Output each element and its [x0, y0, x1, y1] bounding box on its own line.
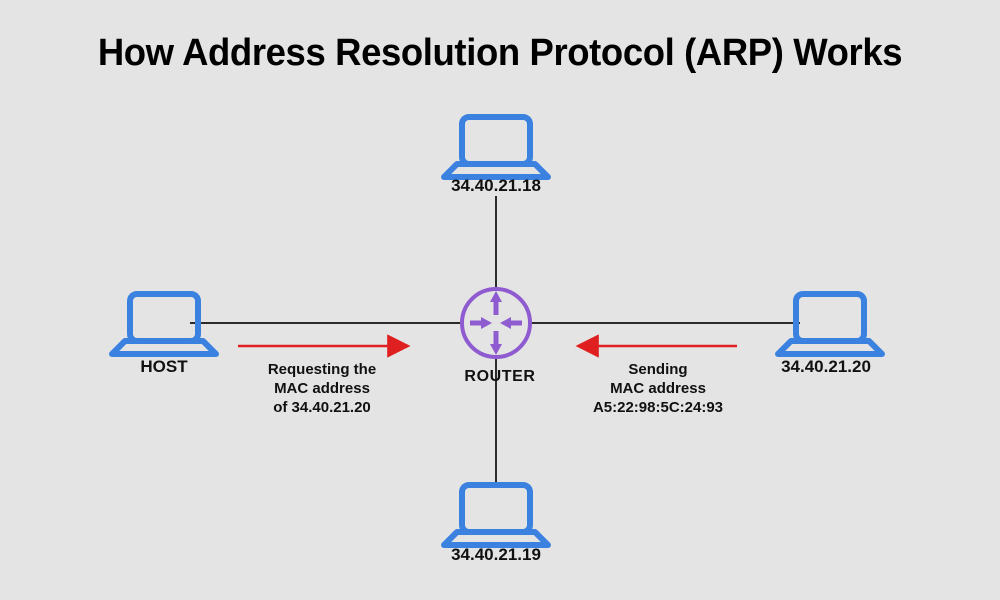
router-arrow-up [490, 291, 502, 315]
flow-label-request: Requesting the MAC address of 34.40.21.2… [232, 360, 412, 418]
router-arrow-down [490, 331, 502, 355]
node-label-router: ROUTER [420, 368, 580, 386]
diagram-canvas [0, 0, 1000, 600]
router-arrow-left-inward [500, 317, 522, 329]
laptop-icon-right [778, 294, 882, 354]
node-label-top: 34.40.21.18 [396, 176, 596, 196]
flow-reply-line2: MAC address [565, 379, 751, 398]
arp-diagram: How Address Resolution Protocol (ARP) Wo… [0, 0, 1000, 600]
node-label-bottom: 34.40.21.19 [396, 545, 596, 565]
flow-request-line1: Requesting the [232, 360, 412, 379]
node-label-right: 34.40.21.20 [726, 357, 926, 377]
laptop-icon-bottom [444, 485, 548, 545]
router-arrow-right-inward [470, 317, 492, 329]
router-icon [462, 289, 530, 357]
flow-reply-line1: Sending [565, 360, 751, 379]
flow-request-line2: MAC address [232, 379, 412, 398]
laptop-icon-top [444, 117, 548, 177]
flow-label-reply: Sending MAC address A5:22:98:5C:24:93 [565, 360, 751, 418]
node-label-host: HOST [104, 357, 224, 377]
laptop-icon-left [112, 294, 216, 354]
flow-request-line3: of 34.40.21.20 [232, 398, 412, 417]
flow-reply-line3: A5:22:98:5C:24:93 [565, 398, 751, 417]
